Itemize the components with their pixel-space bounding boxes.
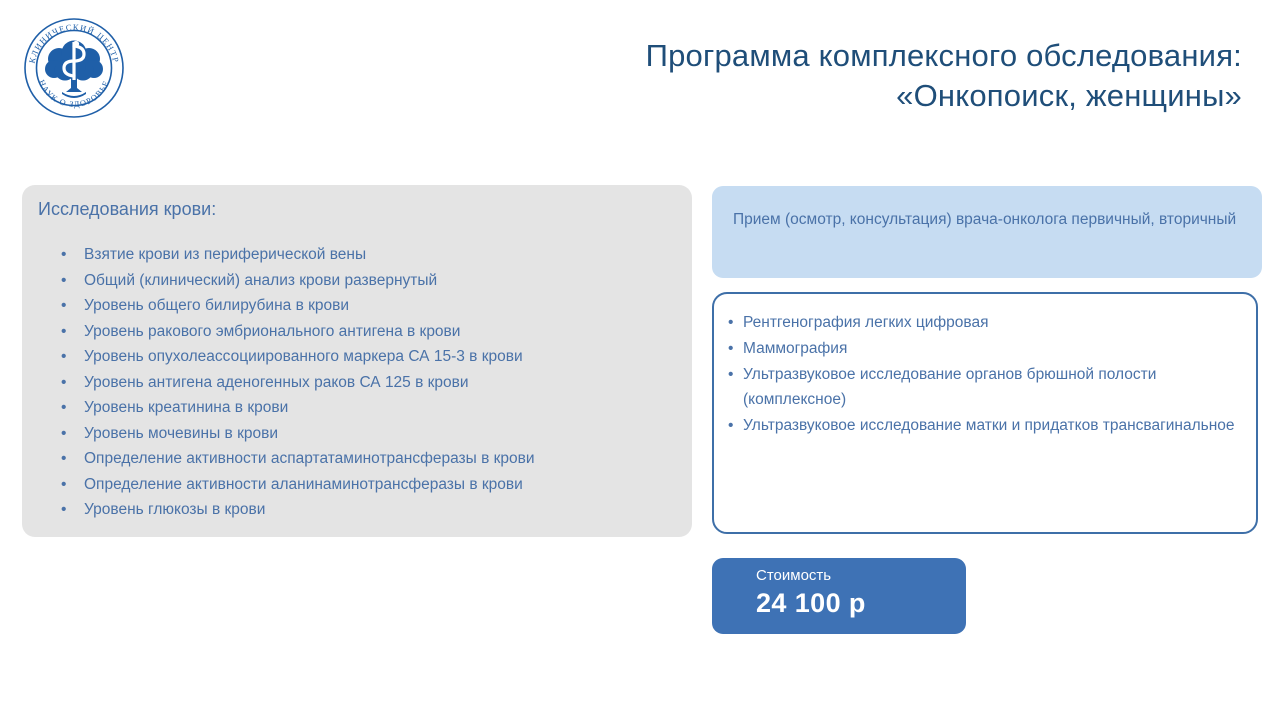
list-item-label: Общий (клинический) анализ крови разверн… <box>84 272 437 289</box>
bullet-icon: • <box>61 319 66 345</box>
list-item: •Уровень общего билирубина в крови <box>34 293 682 319</box>
bullet-icon: • <box>728 336 733 361</box>
price-label: Стоимость <box>756 567 831 584</box>
bullet-icon: • <box>61 497 66 523</box>
list-item: •Общий (клинический) анализ крови развер… <box>34 268 682 294</box>
list-item: •Рентгенография легких цифровая <box>728 310 1244 335</box>
list-item-label: Уровень ракового эмбрионального антигена… <box>84 323 460 340</box>
list-item: •Взятие крови из периферической вены <box>34 242 682 268</box>
bullet-icon: • <box>61 472 66 498</box>
blood-tests-panel: Исследования крови: •Взятие крови из пер… <box>22 185 692 537</box>
list-item: •Определение активности аспартатаминотра… <box>34 446 682 472</box>
bullet-icon: • <box>61 268 66 294</box>
list-item-label: Ультразвуковое исследование органов брюш… <box>743 366 1156 408</box>
bullet-icon: • <box>61 395 66 421</box>
clinical-center-logo: КЛИНИЧЕСКИЙ ЦЕНТР НАУК О ЗДОРОВЬЕ <box>18 12 130 124</box>
price-panel: Стоимость 24 100 р <box>712 558 966 634</box>
list-item-label: Уровень креатинина в крови <box>84 399 288 416</box>
list-item-label: Взятие крови из периферической вены <box>84 246 366 263</box>
list-item: •Уровень антигена аденогенных раков СА 1… <box>34 370 682 396</box>
bullet-icon: • <box>728 413 733 438</box>
list-item: •Ультразвуковое исследование органов брю… <box>728 362 1244 412</box>
list-item: •Уровень креатинина в крови <box>34 395 682 421</box>
imaging-studies-panel: •Рентгенография легких цифровая •Маммогр… <box>712 292 1258 534</box>
list-item: •Маммография <box>728 336 1244 361</box>
bullet-icon: • <box>61 293 66 319</box>
blood-tests-list: •Взятие крови из периферической вены •Об… <box>34 242 682 523</box>
list-item-label: Маммография <box>743 340 847 357</box>
bullet-icon: • <box>61 446 66 472</box>
list-item-label: Определение активности аланинаминотрансф… <box>84 476 523 493</box>
price-value: 24 100 р <box>756 588 866 619</box>
page-title: Программа комплексного обследования: «Он… <box>430 36 1242 116</box>
list-item-label: Уровень общего билирубина в крови <box>84 297 349 314</box>
bullet-icon: • <box>61 242 66 268</box>
list-item-label: Ультразвуковое исследование матки и прид… <box>743 417 1235 434</box>
imaging-studies-list: •Рентгенография легких цифровая •Маммогр… <box>728 310 1244 439</box>
bullet-icon: • <box>728 362 733 387</box>
page-title-line-1: Программа комплексного обследования: <box>430 36 1242 76</box>
oncologist-consultation-panel: Прием (осмотр, консультация) врача-онкол… <box>712 186 1262 278</box>
bullet-icon: • <box>61 370 66 396</box>
bullet-icon: • <box>61 344 66 370</box>
list-item-label: Уровень опухолеассоциированного маркера … <box>84 348 523 365</box>
blood-tests-heading: Исследования крови: <box>38 199 216 220</box>
list-item: •Уровень опухолеассоциированного маркера… <box>34 344 682 370</box>
list-item: •Определение активности аланинаминотранс… <box>34 472 682 498</box>
list-item: •Ультразвуковое исследование матки и при… <box>728 413 1244 438</box>
list-item: •Уровень мочевины в крови <box>34 421 682 447</box>
list-item: •Уровень ракового эмбрионального антиген… <box>34 319 682 345</box>
bullet-icon: • <box>728 310 733 335</box>
list-item-label: Уровень антигена аденогенных раков СА 12… <box>84 374 469 391</box>
oncologist-consultation-text: Прием (осмотр, консультация) врача-онкол… <box>733 208 1244 232</box>
list-item-label: Рентгенография легких цифровая <box>743 314 988 331</box>
list-item-label: Определение активности аспартатаминотран… <box>84 450 535 467</box>
page-title-line-2: «Онкопоиск, женщины» <box>430 76 1242 116</box>
list-item: •Уровень глюкозы в крови <box>34 497 682 523</box>
list-item-label: Уровень глюкозы в крови <box>84 501 265 518</box>
bullet-icon: • <box>61 421 66 447</box>
list-item-label: Уровень мочевины в крови <box>84 425 278 442</box>
